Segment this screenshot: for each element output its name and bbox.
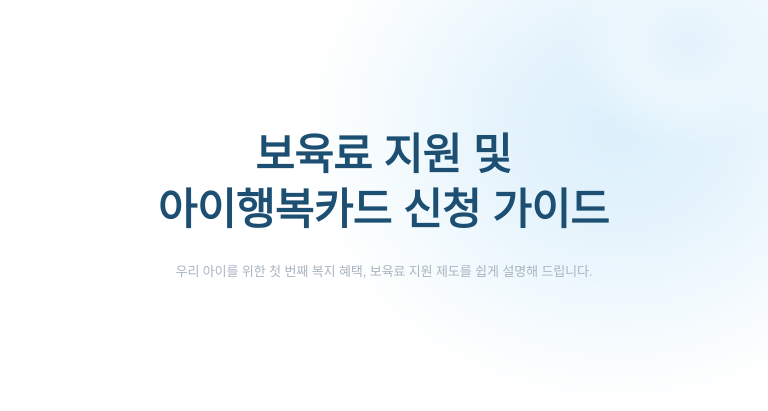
content-area-below-hero — [0, 300, 768, 411]
hero-page: 보육료 지원 및 아이행복카드 신청 가이드 우리 아이를 위한 첫 번째 복지… — [0, 0, 768, 411]
page-title-line-2: 아이행복카드 신청 가이드 — [158, 183, 609, 238]
page-subtitle: 우리 아이를 위한 첫 번째 복지 혜택, 보육료 지원 제도를 쉽게 설명해 … — [176, 238, 593, 282]
page-title-line-1: 보육료 지원 및 — [158, 128, 609, 183]
page-title: 보육료 지원 및 아이행복카드 신청 가이드 — [158, 128, 609, 238]
